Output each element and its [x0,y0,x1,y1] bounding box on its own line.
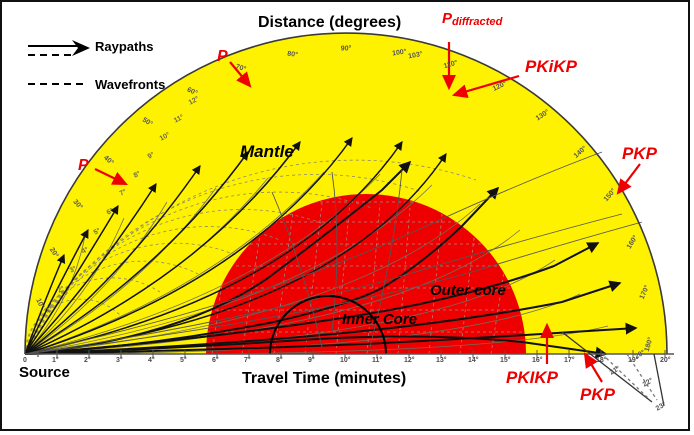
source-label: Source [19,364,70,381]
travel-time-tick-8: 8° [276,357,283,364]
legend-glyphs [28,40,90,84]
region-label-inner-core: Inner Core [342,311,402,328]
travel-time-tick-12: 12° [404,357,415,364]
phase-label-p-diffracted-sub: diffracted [452,16,502,28]
region-label-mantle: Mantle [240,142,294,162]
travel-time-tick-11: 11° [372,357,382,364]
phase-label-p-diffracted-main: P [442,10,452,27]
travel-time-tick-18: 18° [596,357,607,364]
x-axis-title: Travel Time (minutes) [242,370,406,388]
earth-cross-section [2,2,692,433]
travel-time-tick-14: 14° [468,357,479,364]
travel-time-tick-20: 20° [660,357,671,364]
phase-label-pkikp-bottom: PKIKP [506,368,558,388]
travel-time-tick-0: 0 [23,357,27,364]
legend-item-raypaths: Raypaths [95,39,154,54]
travel-time-tick-7: 7° [244,357,251,364]
phase-label-pkp-right: PKP [622,144,657,164]
phase-label-p-left: P [78,157,89,175]
travel-time-tick-3: 3° [116,357,123,364]
travel-time-tick-13: 13° [436,357,447,364]
phase-label-pkikp-top: PKiKP [525,57,577,77]
travel-time-tick-16: 16° [532,357,543,364]
distance-arc-tick-9: 90° [341,46,352,53]
travel-time-tick-10: 10° [340,357,351,364]
travel-time-tick-17: 17° [564,357,575,364]
travel-time-tick-4: 4° [148,357,155,364]
phase-label-p-top: P [217,48,228,66]
phase-label-pkp-bottom: PKP [580,385,615,405]
arrow-pkp-right [618,164,640,193]
travel-time-tick-2: 2° [84,357,91,364]
legend-item-wavefronts: Wavefronts [95,77,165,92]
travel-time-tick-5: 5° [180,357,187,364]
diagram-stage: Distance (degrees) Travel Time (minutes)… [2,2,688,429]
travel-time-tick-1: 1° [52,357,59,364]
page-title: Distance (degrees) [258,14,401,32]
travel-time-tick-6: 6° [212,357,219,364]
phase-label-p-diffracted: Pdiffracted [442,10,502,27]
region-label-outer-core: Outer core [430,282,506,299]
distance-arc-tick-8: 80° [287,50,298,58]
travel-time-tick-9: 9° [308,357,315,364]
travel-time-tick-15: 15° [500,357,511,364]
figure-frame: Distance (degrees) Travel Time (minutes)… [0,0,690,431]
